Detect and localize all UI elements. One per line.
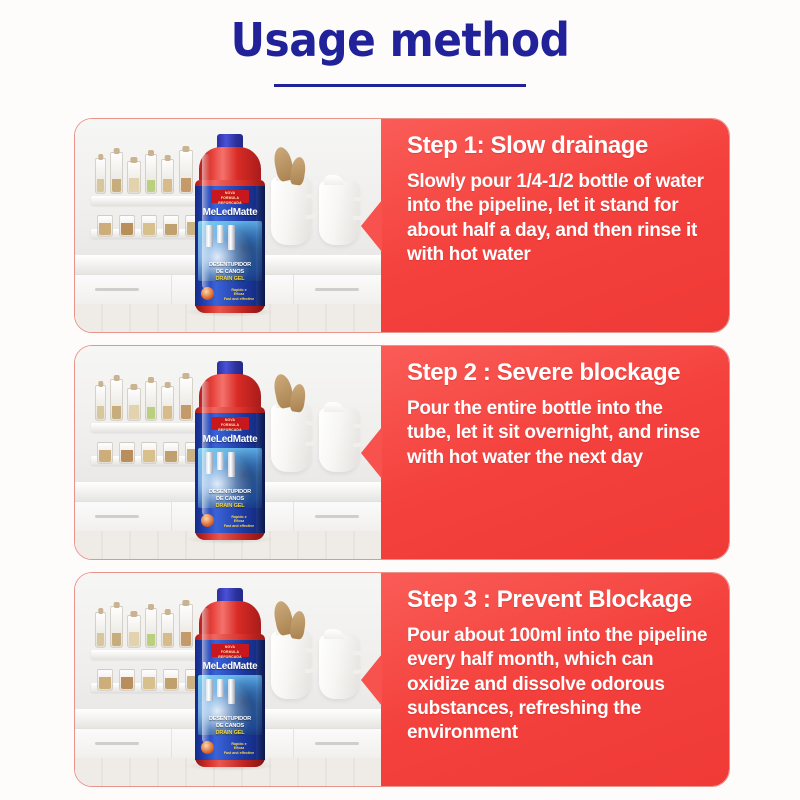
- label-line-1: DESENTUPIDOR: [195, 489, 265, 495]
- label-footnote: Rapido e Eficaz Fast and effective: [217, 288, 261, 301]
- jar-fill: [181, 178, 191, 192]
- jar-cap: [182, 600, 189, 606]
- jar-fill: [163, 406, 172, 419]
- pipe-graphic: [228, 679, 235, 704]
- jar-fill: [97, 406, 104, 419]
- nova-formula-badge: NOVA FORMULA REFORCADA: [211, 644, 249, 657]
- shelf-board-upper: [91, 650, 209, 659]
- spice-jar: [97, 669, 113, 691]
- spice-jar: [119, 215, 135, 237]
- page-title: Usage method: [32, 16, 768, 64]
- label-side-shading: [256, 186, 265, 306]
- label-footnote: Rapido e Eficaz Fast and effective: [217, 515, 261, 528]
- step-card-3[interactable]: NOVA FORMULA REFORCADA MeLedMatte DESENT…: [74, 572, 730, 787]
- pointer-arrow-icon: [361, 200, 382, 252]
- ceramic-pitcher: [319, 408, 359, 472]
- jar-cap: [130, 157, 137, 163]
- glass-bottle: [145, 608, 157, 648]
- footnote-line-3: Fast and effective: [217, 524, 261, 528]
- label-line-3: DRAIN GEL: [195, 730, 265, 736]
- pipe-graphic: [206, 452, 213, 474]
- utensil-holder: [271, 404, 311, 472]
- glass-bottle: [95, 385, 106, 421]
- jar-fill: [129, 405, 139, 419]
- glass-bottle: [95, 612, 106, 648]
- jar-cap: [113, 375, 120, 381]
- step-card-2[interactable]: NOVA FORMULA REFORCADA MeLedMatte DESENT…: [74, 345, 730, 560]
- glass-bottle: [127, 388, 141, 421]
- jar-cap: [113, 602, 120, 608]
- spice-jar: [97, 442, 113, 464]
- pointer-arrow-icon: [361, 427, 382, 479]
- jar-fill: [129, 178, 139, 192]
- cabinet-seam: [293, 728, 294, 758]
- jar-fill: [165, 678, 177, 689]
- spice-jar: [163, 442, 179, 464]
- quality-seal-icon: [201, 741, 214, 754]
- glass-bottle: [110, 152, 123, 194]
- pipe-graphic: [217, 452, 224, 470]
- jar-cap: [98, 154, 103, 160]
- jar-fill: [99, 450, 111, 462]
- product-bottle: NOVA FORMULA REFORCADA MeLedMatte DESENT…: [193, 361, 267, 540]
- title-divider: [274, 84, 526, 87]
- badge-line-3: REFORCADA: [211, 200, 249, 205]
- label-line-2: DE CANOS: [195, 269, 265, 275]
- ceramic-pitcher: [319, 635, 359, 699]
- label-line-1: DESENTUPIDOR: [195, 716, 265, 722]
- badge-line-3: REFORCADA: [211, 654, 249, 659]
- nova-formula-badge: NOVA FORMULA REFORCADA: [211, 190, 249, 203]
- spice-jar: [119, 442, 135, 464]
- bottle-label: NOVA FORMULA REFORCADA MeLedMatte DESENT…: [195, 186, 265, 306]
- jar-fill: [165, 224, 177, 235]
- step-title: Step 2 : Severe blockage: [407, 360, 711, 387]
- jar-fill: [181, 632, 191, 646]
- steps-list: NOVA FORMULA REFORCADA MeLedMatte DESENT…: [74, 118, 730, 799]
- jar-cap: [148, 150, 154, 156]
- pipe-graphic: [217, 225, 224, 243]
- jar-fill: [147, 407, 155, 418]
- spice-jar: [163, 215, 179, 237]
- brand-name: MeLedMatte: [195, 434, 265, 445]
- glass-bottle: [179, 150, 193, 194]
- spice-shelf: [91, 149, 209, 243]
- step-body: Slowly pour 1/4-1/2 bottle of water into…: [407, 170, 711, 267]
- jar-fill: [97, 179, 104, 192]
- label-line-3: DRAIN GEL: [195, 503, 265, 509]
- label-line-2: DE CANOS: [195, 723, 265, 729]
- drawer-handle: [315, 515, 359, 518]
- utensil-holder: [271, 631, 311, 699]
- label-footnote: Rapido e Eficaz Fast and effective: [217, 742, 261, 755]
- quality-seal-icon: [201, 287, 214, 300]
- label-side-shading: [256, 640, 265, 760]
- jar-cap: [164, 609, 171, 615]
- jar-fill: [165, 451, 177, 462]
- jar-fill: [129, 632, 139, 646]
- pipe-graphic: [217, 679, 224, 697]
- jar-fill: [147, 634, 155, 645]
- pipe-graphic: [228, 225, 235, 250]
- cabinet-seam: [171, 501, 172, 531]
- drawer-handle: [95, 515, 139, 518]
- bottle-label: NOVA FORMULA REFORCADA MeLedMatte DESENT…: [195, 640, 265, 760]
- nova-formula-badge: NOVA FORMULA REFORCADA: [211, 417, 249, 430]
- spice-shelf: [91, 603, 209, 697]
- bottle-label: NOVA FORMULA REFORCADA MeLedMatte DESENT…: [195, 413, 265, 533]
- glass-bottle: [179, 604, 193, 648]
- glass-bottle: [145, 154, 157, 194]
- jar-cap: [113, 148, 120, 154]
- jar-fill: [163, 633, 172, 646]
- glass-bottle: [145, 381, 157, 421]
- step-text-pane-1: Step 1: Slow drainage Slowly pour 1/4-1/…: [381, 119, 729, 332]
- pipe-graphic: [228, 452, 235, 477]
- glass-bottle: [95, 158, 106, 194]
- jar-cap: [182, 146, 189, 152]
- glass-bottle: [179, 377, 193, 421]
- jar-fill: [121, 677, 133, 689]
- drawer-handle: [315, 742, 359, 745]
- jar-fill: [112, 633, 121, 646]
- step-card-1[interactable]: NOVA FORMULA REFORCADA MeLedMatte DESENT…: [74, 118, 730, 333]
- jar-cap: [164, 155, 171, 161]
- page-header: Usage method: [0, 0, 800, 87]
- jar-fill: [143, 223, 155, 235]
- drawer-handle: [315, 288, 359, 291]
- jar-cap: [130, 384, 137, 390]
- cabinet-seam: [293, 274, 294, 304]
- spice-jar: [141, 669, 157, 691]
- spice-jar: [119, 669, 135, 691]
- glass-bottle: [161, 613, 174, 648]
- spice-jar: [97, 215, 113, 237]
- jar-cap: [164, 382, 171, 388]
- jar-fill: [143, 450, 155, 462]
- product-bottle: NOVA FORMULA REFORCADA MeLedMatte DESENT…: [193, 134, 267, 313]
- product-photo-3: NOVA FORMULA REFORCADA MeLedMatte DESENT…: [75, 573, 385, 786]
- cabinet-seam: [293, 501, 294, 531]
- jar-fill: [99, 677, 111, 689]
- jar-fill: [163, 179, 172, 192]
- glass-bottle: [127, 615, 141, 648]
- ceramic-pitcher: [319, 181, 359, 245]
- pointer-arrow-icon: [361, 654, 382, 706]
- product-bottle: NOVA FORMULA REFORCADA MeLedMatte DESENT…: [193, 588, 267, 767]
- shelf-board-upper: [91, 196, 209, 205]
- spice-jar: [141, 442, 157, 464]
- jar-cap: [98, 381, 103, 387]
- jar-fill: [121, 223, 133, 235]
- step-body: Pour about 100ml into the pipeline every…: [407, 624, 711, 746]
- pipe-graphic: [206, 679, 213, 701]
- label-line-3: DRAIN GEL: [195, 276, 265, 282]
- product-photo-2: NOVA FORMULA REFORCADA MeLedMatte DESENT…: [75, 346, 385, 559]
- quality-seal-icon: [201, 514, 214, 527]
- brand-name: MeLedMatte: [195, 207, 265, 218]
- jar-fill: [112, 406, 121, 419]
- pipe-graphic: [206, 225, 213, 247]
- jar-fill: [112, 179, 121, 192]
- footnote-line-3: Fast and effective: [217, 297, 261, 301]
- jar-fill: [97, 633, 104, 646]
- drawer-handle: [95, 288, 139, 291]
- badge-line-3: REFORCADA: [211, 427, 249, 432]
- step-title: Step 1: Slow drainage: [407, 133, 711, 160]
- jar-cap: [130, 611, 137, 617]
- product-photo-1: NOVA FORMULA REFORCADA MeLedMatte DESENT…: [75, 119, 385, 332]
- jar-cap: [182, 373, 189, 379]
- jar-cap: [98, 608, 103, 614]
- label-line-2: DE CANOS: [195, 496, 265, 502]
- step-title: Step 3 : Prevent Blockage: [407, 587, 711, 614]
- glass-bottle: [127, 161, 141, 194]
- glass-bottle: [161, 159, 174, 194]
- jar-cap: [148, 377, 154, 383]
- jar-fill: [99, 223, 111, 235]
- shelf-board-upper: [91, 423, 209, 432]
- glass-bottle: [110, 606, 123, 648]
- jar-cap: [148, 604, 154, 610]
- brand-name: MeLedMatte: [195, 661, 265, 672]
- step-text-pane-2: Step 2 : Severe blockage Pour the entire…: [381, 346, 729, 559]
- cabinet-seam: [171, 274, 172, 304]
- jar-fill: [147, 180, 155, 191]
- jar-fill: [143, 677, 155, 689]
- spice-jar: [163, 669, 179, 691]
- glass-bottle: [110, 379, 123, 421]
- label-side-shading: [256, 413, 265, 533]
- utensil-holder: [271, 177, 311, 245]
- step-text-pane-3: Step 3 : Prevent Blockage Pour about 100…: [381, 573, 729, 786]
- label-line-1: DESENTUPIDOR: [195, 262, 265, 268]
- step-body: Pour the entire bottle into the tube, le…: [407, 397, 711, 470]
- jar-fill: [181, 405, 191, 419]
- cabinet-seam: [171, 728, 172, 758]
- drawer-handle: [95, 742, 139, 745]
- jar-fill: [121, 450, 133, 462]
- glass-bottle: [161, 386, 174, 421]
- spice-shelf: [91, 376, 209, 470]
- spice-jar: [141, 215, 157, 237]
- footnote-line-3: Fast and effective: [217, 751, 261, 755]
